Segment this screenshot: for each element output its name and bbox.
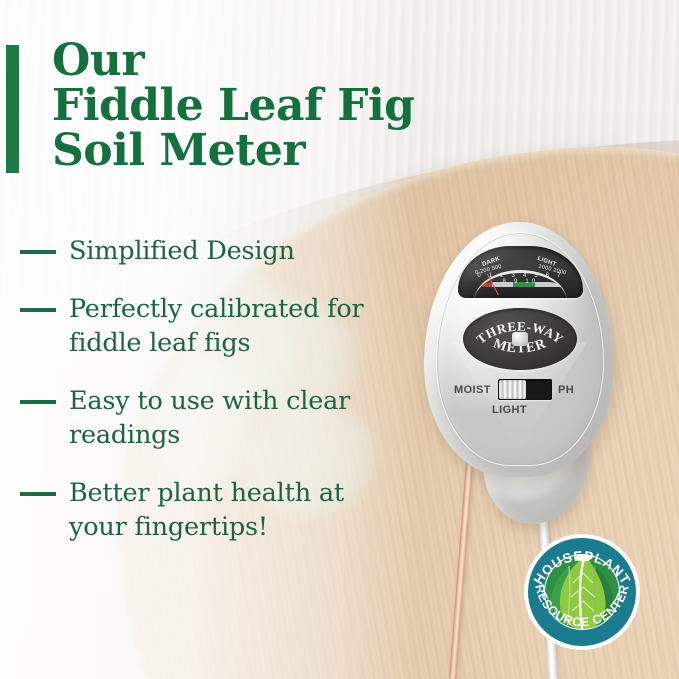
list-item: Better plant health at your fingertips! <box>20 476 420 544</box>
headline-line-2: Fiddle Leaf Fig <box>52 83 472 128</box>
list-item: Easy to use with clear readings <box>20 384 420 452</box>
page-title: Our Fiddle Leaf Fig Soil Meter <box>52 38 472 173</box>
switch-knob[interactable] <box>499 380 526 399</box>
dash-icon <box>20 492 56 496</box>
switch-label-moist: MOIST <box>454 384 491 396</box>
dash-icon <box>20 308 56 312</box>
headline-line-1: Our <box>52 38 472 83</box>
list-item-label: Perfectly calibrated for fiddle leaf fig… <box>69 292 399 360</box>
brand-badge: THREE-WAY METER <box>463 308 577 370</box>
promo-graphic: Our Fiddle Leaf Fig Soil Meter Simplifie… <box>0 0 679 679</box>
switch-label-ph: PH <box>558 384 574 396</box>
accent-bar <box>6 45 19 173</box>
headline-line-3: Soil Meter <box>52 128 472 173</box>
soil-meter-device: DARK LIGHT 0 200 500 1000 2000 0 1 2 3 4… <box>424 222 614 512</box>
list-item: Perfectly calibrated for fiddle leaf fig… <box>20 292 420 360</box>
list-item-label: Better plant health at your fingertips! <box>69 476 399 544</box>
dash-icon <box>20 250 56 254</box>
list-item-label: Easy to use with clear readings <box>69 384 399 452</box>
dash-icon <box>20 400 56 404</box>
switch-label-light: LIGHT <box>492 404 527 416</box>
gauge-glass-reflection <box>458 246 583 298</box>
list-item-label: Simplified Design <box>69 234 295 268</box>
switch-track[interactable] <box>498 379 552 400</box>
analog-gauge: DARK LIGHT 0 200 500 1000 2000 0 1 2 3 4… <box>458 246 583 298</box>
brand-logo: HOUSEPLANT RESOURCE CENTER <box>523 533 641 651</box>
mode-switch[interactable]: MOIST PH LIGHT <box>452 377 588 423</box>
badge-center-dot <box>512 332 528 346</box>
list-item: Simplified Design <box>20 234 420 268</box>
feature-list: Simplified Design Perfectly calibrated f… <box>20 234 420 568</box>
